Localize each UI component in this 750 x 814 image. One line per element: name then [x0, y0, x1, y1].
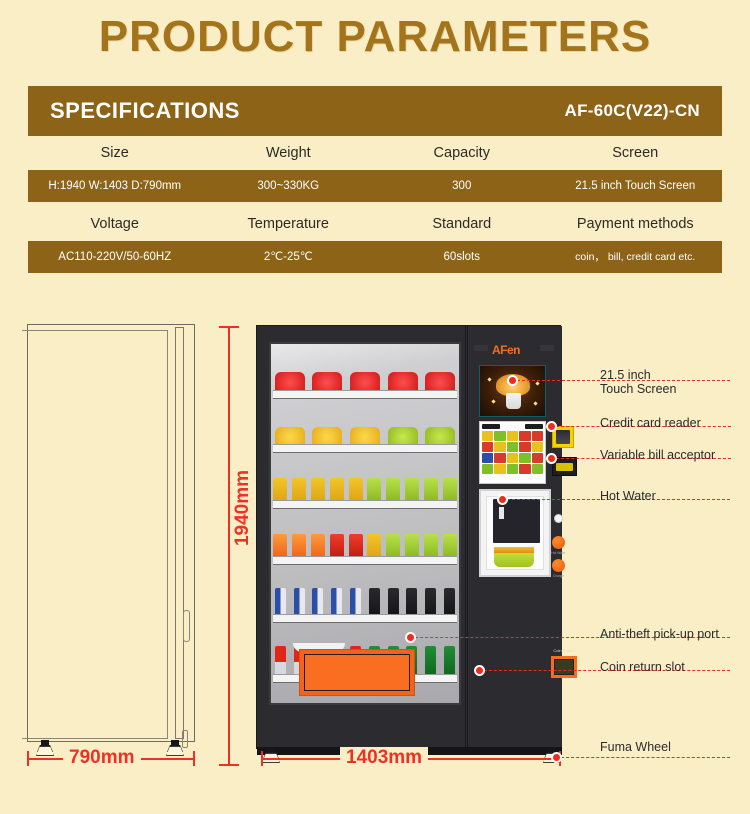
callout-text: 21.5 inch: [600, 368, 651, 382]
table-row: Size Weight Capacity Screen: [28, 136, 722, 170]
coin-return-label: Coin Return: [548, 648, 580, 653]
vending-machine-front-view: AFen: [256, 325, 561, 749]
dimension-label-depth: 790mm: [63, 747, 141, 769]
table-row: H:1940 W:1403 D:790mm 300~330KG 300 21.5…: [28, 170, 722, 202]
spec-value: coin， bill, credit card etc.: [549, 241, 723, 273]
callout-label-coin-return: Coin return slot: [600, 660, 685, 674]
callout-label-touch-screen: 21.5 inch Touch Screen: [600, 368, 676, 396]
callout-label-hot-water: Hot Water: [600, 489, 656, 503]
spec-label: Size: [28, 136, 202, 170]
touch-screen[interactable]: [479, 365, 546, 417]
specifications-table: SPECIFICATIONS AF-60C(V22)-CN Size Weigh…: [28, 86, 722, 273]
product-shelf: [271, 572, 459, 622]
spec-label: Screen: [549, 136, 723, 170]
callout-dot-coin-return: [474, 665, 485, 676]
callout-dot-fuma-wheel: [551, 752, 562, 763]
callout-label-bill-acceptor: Variable bill acceptor: [600, 448, 715, 462]
product-shelf: [271, 516, 459, 564]
product-selection-panel[interactable]: [479, 421, 546, 484]
coin-return-slot[interactable]: [551, 656, 577, 678]
spec-label: Capacity: [375, 136, 549, 170]
product-diagram: 790mm 1940mm: [0, 310, 750, 814]
dimension-cap: [219, 326, 239, 328]
side-view-door-strip: [175, 327, 184, 739]
spec-label: Standard: [375, 207, 549, 241]
side-view-foot: [36, 740, 54, 756]
callout-label-fuma-wheel: Fuma Wheel: [600, 740, 671, 754]
callout-dot-touch-screen: [507, 375, 518, 386]
spec-model-code: AF-60C(V22)-CN: [565, 101, 701, 121]
side-view-foot: [166, 740, 184, 756]
callout-line-fuma-wheel: [556, 757, 730, 758]
change-button-label: Change: [547, 574, 570, 578]
spec-value: 2℃-25℃: [202, 241, 376, 273]
product-shelf: [271, 406, 459, 452]
product-shelf: [271, 352, 459, 398]
table-row: Voltage Temperature Standard Payment met…: [28, 207, 722, 241]
vent-right: [540, 345, 554, 351]
dispenser-indicator: [554, 514, 563, 523]
spec-label: Payment methods: [549, 207, 723, 241]
control-panel: AFen: [467, 326, 562, 750]
callout-label-pickup-port: Anti-theft pick-up port: [600, 627, 719, 641]
hot-water-button-label: Hot Water: [547, 551, 570, 555]
product-shelf: [271, 460, 459, 508]
screen-cup-graphic: [506, 393, 521, 409]
callout-dot-hot-water: [497, 494, 508, 505]
spec-value: 300~330KG: [202, 170, 376, 202]
anti-theft-pickup-port[interactable]: [299, 649, 415, 696]
table-row: AC110-220V/50-60HZ 2℃-25℃ 60slots coin， …: [28, 241, 722, 273]
dimension-label-width: 1403mm: [340, 747, 428, 769]
spec-value: 300: [375, 170, 549, 202]
spec-value: 21.5 inch Touch Screen: [549, 170, 723, 202]
spec-value: H:1940 W:1403 D:790mm: [28, 170, 202, 202]
dimension-label-height: 1940mm: [230, 466, 256, 550]
callout-dot-pickup-port: [405, 632, 416, 643]
brand-logo: AFen: [492, 343, 520, 357]
spec-label: Weight: [202, 136, 376, 170]
callout-dot-credit-card-reader: [546, 421, 557, 432]
callout-text: Touch Screen: [600, 382, 676, 396]
machine-foot-left: [262, 747, 280, 763]
side-view-inner-panel: [22, 330, 168, 739]
spec-header-title: SPECIFICATIONS: [50, 98, 240, 124]
spec-value: 60slots: [375, 241, 549, 273]
change-button[interactable]: [552, 559, 565, 572]
vent-left: [474, 345, 488, 351]
cabinet-seam: [465, 326, 466, 750]
spec-label: Voltage: [28, 207, 202, 241]
spec-value: AC110-220V/50-60HZ: [28, 241, 202, 273]
page-title: PRODUCT PARAMETERS: [0, 12, 750, 62]
hot-water-dispenser[interactable]: [479, 489, 551, 577]
hot-water-button[interactable]: [552, 536, 565, 549]
dimension-cap: [219, 764, 239, 766]
dimension-cap: [193, 751, 195, 766]
callout-dot-bill-acceptor: [546, 453, 557, 464]
callout-label-credit-card-reader: Credit card reader: [600, 416, 701, 430]
spec-label: Temperature: [202, 207, 376, 241]
spec-table-header: SPECIFICATIONS AF-60C(V22)-CN: [28, 86, 722, 136]
side-view-handle: [183, 610, 190, 642]
